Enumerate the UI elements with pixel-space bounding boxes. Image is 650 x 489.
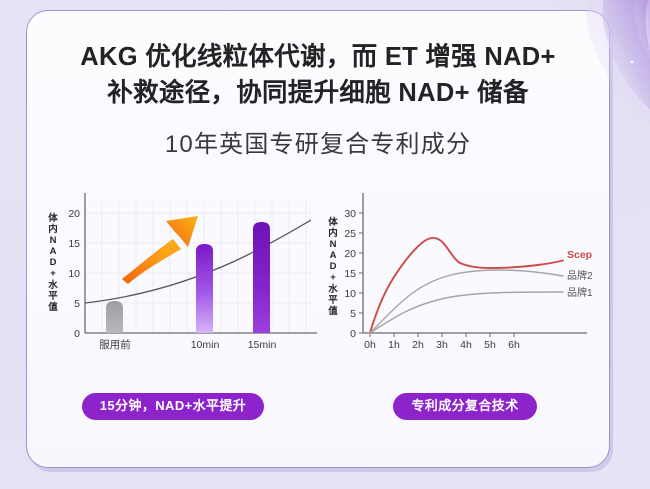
svg-text:体: 体 [328, 216, 338, 228]
badge-row: 15分钟，NAD+水平提升 专利成分复合技术 [27, 393, 610, 420]
bar-xtick-0: 服用前 [99, 338, 131, 351]
line-xtick-1h: 1h [388, 339, 400, 351]
svg-text:+: + [50, 268, 56, 279]
legend-label-brand1: 品牌1 [567, 286, 593, 299]
bar-10min [196, 244, 213, 333]
page-root: AKG 优化线粒体代谢，而 ET 增强 NAD+ 补救途径，协同提升细胞 NAD… [0, 0, 650, 489]
bar-xtick-2: 15min [248, 339, 277, 351]
line-ytick-15: 15 [344, 268, 356, 280]
line-plot-background [363, 193, 609, 333]
line-ytick-5: 5 [350, 308, 356, 320]
line-ytick-0: 0 [350, 328, 356, 340]
line-xtick-5h: 5h [484, 339, 496, 351]
badge-nad-boost[interactable]: 15分钟，NAD+水平提升 [82, 393, 264, 420]
bar-ytick-10: 10 [68, 268, 80, 280]
legend-label-scep: Scep [567, 249, 592, 261]
main-card: AKG 优化线粒体代谢，而 ET 增强 NAD+ 补救途径，协同提升细胞 NAD… [26, 10, 610, 468]
heading-line-1: AKG 优化线粒体代谢，而 ET 增强 NAD+ [43, 39, 593, 75]
line-xtick-3h: 3h [436, 339, 448, 351]
line-ytick-10: 10 [344, 288, 356, 300]
bar-ytick-20: 20 [68, 208, 80, 220]
svg-text:N: N [50, 235, 57, 246]
badge-cell-right: 专利成分复合技术 [319, 393, 610, 420]
charts-row: 0 5 10 15 20 体 内 N A D + 水 [27, 187, 610, 387]
bar-before [106, 301, 123, 333]
svg-text:N: N [330, 239, 337, 250]
svg-text:D: D [330, 261, 337, 272]
bar-chart-y-axis-label: 体 内 N A D + 水 平 值 [48, 212, 58, 313]
heading-block: AKG 优化线粒体代谢，而 ET 增强 NAD+ 补救途径，协同提升细胞 NAD… [27, 39, 609, 159]
svg-text:平: 平 [328, 295, 338, 306]
svg-text:内: 内 [328, 227, 338, 239]
svg-text:平: 平 [48, 291, 58, 302]
svg-text:+: + [330, 272, 336, 283]
svg-text:内: 内 [48, 223, 58, 235]
line-chart-y-tick-labels: 0 5 10 15 20 25 30 [344, 208, 356, 340]
heading-line-2: 补救途径，协同提升细胞 NAD+ 储备 [43, 75, 593, 111]
svg-text:A: A [330, 250, 337, 261]
svg-text:水: 水 [328, 283, 338, 295]
bar-chart-x-tick-labels: 服用前 10min 15min [99, 338, 276, 351]
nad-line-chart: 0 5 10 15 20 25 30 体 内 N A D [319, 187, 610, 387]
bar-chart-y-tick-labels: 0 5 10 15 20 [68, 208, 80, 340]
bar-ytick-5: 5 [74, 298, 80, 310]
bar-ytick-15: 15 [68, 238, 80, 250]
svg-text:D: D [50, 257, 57, 268]
badge-patent-tech[interactable]: 专利成分复合技术 [393, 393, 536, 420]
nad-bar-chart: 0 5 10 15 20 体 内 N A D + 水 [27, 187, 319, 387]
line-ytick-25: 25 [344, 228, 356, 240]
line-ytick-30: 30 [344, 208, 356, 220]
bar-xtick-1: 10min [191, 339, 220, 351]
line-chart-x-tick-labels: 0h 1h 2h 3h 4h 5h 6h [364, 339, 520, 351]
svg-text:值: 值 [48, 301, 58, 313]
line-chart-y-axis-label: 体 内 N A D + 水 平 值 [328, 216, 338, 317]
svg-text:体: 体 [48, 212, 58, 224]
svg-text:值: 值 [328, 305, 338, 317]
legend-label-brand2: 品牌2 [567, 269, 593, 282]
line-xtick-0h: 0h [364, 339, 376, 351]
bar-15min [253, 222, 270, 333]
svg-text:A: A [50, 246, 57, 257]
svg-text:水: 水 [48, 279, 58, 291]
line-xtick-4h: 4h [460, 339, 472, 351]
page-subtitle: 10年英国专研复合专利成分 [43, 124, 593, 159]
line-xtick-6h: 6h [508, 339, 520, 351]
badge-cell-left: 15分钟，NAD+水平提升 [27, 393, 319, 420]
line-ytick-20: 20 [344, 248, 356, 260]
line-xtick-2h: 2h [412, 339, 424, 351]
bar-ytick-0: 0 [74, 328, 80, 340]
